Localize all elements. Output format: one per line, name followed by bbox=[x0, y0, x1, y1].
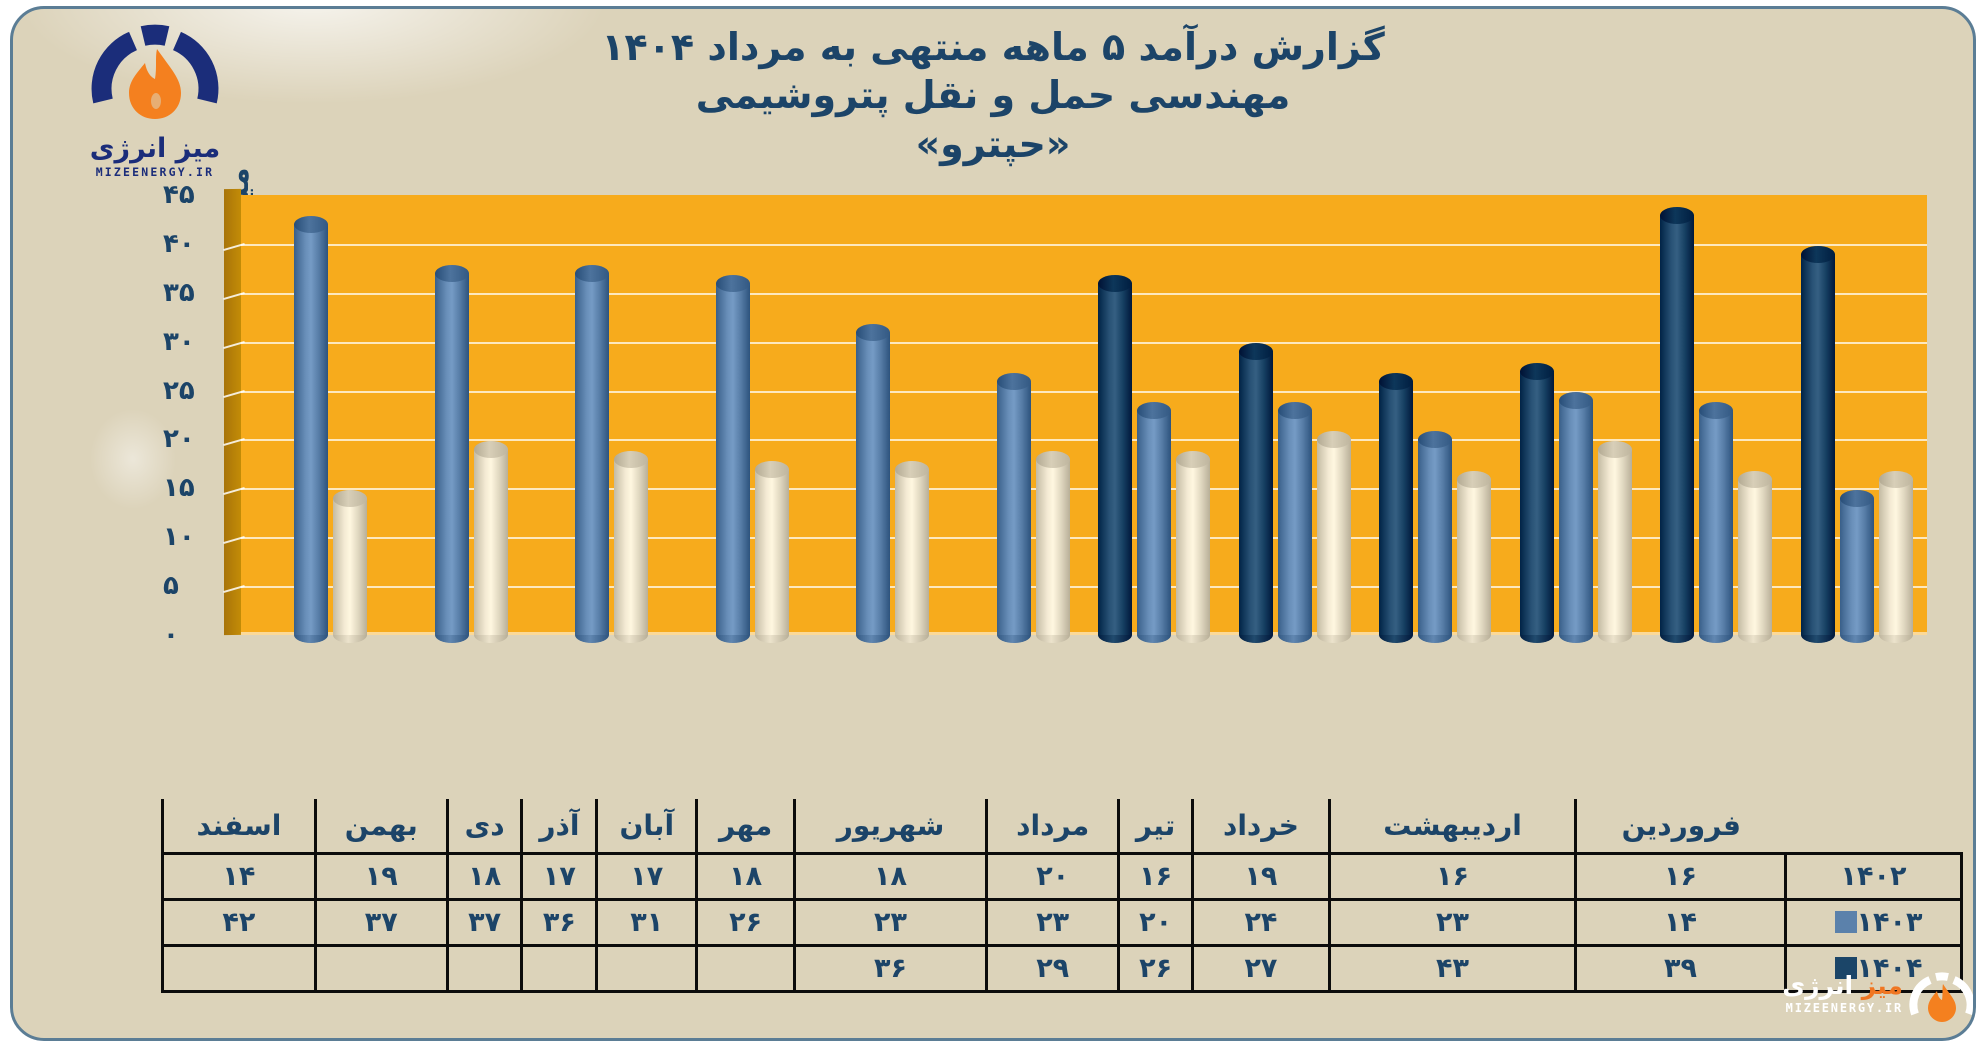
bar-۱۴۰۲-خرداد bbox=[1598, 441, 1632, 635]
bar-۱۴۰۲-تیر bbox=[1457, 471, 1491, 635]
legend-swatch bbox=[1835, 911, 1857, 933]
brand-logo: میز انرژی MIZEENERGY.IR bbox=[65, 23, 245, 188]
bar-۱۴۰۳-اسفند bbox=[294, 216, 328, 635]
table-column-header: مرداد bbox=[987, 799, 1119, 853]
table-cell: ۴۲ bbox=[163, 899, 316, 945]
bar-top-cap bbox=[755, 461, 789, 478]
watermark-name-part2: انرژی bbox=[1782, 971, 1862, 1000]
bar-top-cap bbox=[614, 451, 648, 468]
bar-top-cap bbox=[1278, 402, 1312, 419]
bar-۱۴۰۴-شهریور bbox=[1098, 275, 1132, 635]
table-cell: ۱۷ bbox=[522, 853, 597, 899]
bar-body bbox=[435, 273, 469, 635]
bar-top-cap bbox=[895, 461, 929, 478]
bar-group bbox=[1646, 195, 1787, 635]
brand-url-en: MIZEENERGY.IR bbox=[65, 165, 245, 179]
bar-group bbox=[1225, 195, 1366, 635]
data-table: فروردیناردیبهشتخردادتیرمردادشهریورمهرآبا… bbox=[161, 799, 1963, 993]
bar-top-cap bbox=[1379, 373, 1413, 390]
table-cell: ۱۸ bbox=[447, 853, 522, 899]
table-cell: ۱۷ bbox=[597, 853, 697, 899]
y-tick-label: ۲۵ bbox=[163, 376, 225, 406]
bar-top-cap bbox=[474, 441, 508, 458]
y-tick-label: ۱۵ bbox=[163, 473, 225, 503]
bar-۱۴۰۲-شهریور bbox=[1176, 451, 1210, 635]
screenshot-root: میز انرژی MIZEENERGY.IR گزارش درآمد ۵ ما… bbox=[0, 0, 1986, 1047]
bar-group bbox=[1787, 195, 1928, 635]
bar-۱۴۰۳-خرداد bbox=[1559, 392, 1593, 635]
table-column-header: فروردین bbox=[1576, 799, 1786, 853]
bar-body bbox=[1738, 479, 1772, 635]
bar-group bbox=[1365, 195, 1506, 635]
gauge-flame-icon bbox=[65, 23, 245, 135]
bar-group bbox=[803, 195, 944, 635]
bar-body bbox=[997, 381, 1031, 635]
table-row-label: ۱۴۰۳ bbox=[1786, 899, 1962, 945]
bar-group bbox=[382, 195, 523, 635]
table-cell bbox=[597, 945, 697, 991]
watermark-text: میز انرژی MIZEENERGY.IR bbox=[1782, 973, 1903, 1015]
table-cell bbox=[163, 945, 316, 991]
table-cell: ۱۹ bbox=[315, 853, 447, 899]
table-cell: ۲۳ bbox=[1330, 899, 1576, 945]
table-column-header: مهر bbox=[697, 799, 795, 853]
bar-group bbox=[944, 195, 1085, 635]
bar-body bbox=[1036, 459, 1070, 635]
table-cell: ۳۷ bbox=[315, 899, 447, 945]
table-header-row: فروردیناردیبهشتخردادتیرمردادشهریورمهرآبا… bbox=[163, 799, 1962, 853]
y-tick-label: ۵ bbox=[163, 571, 225, 601]
bar-۱۴۰۳-مرداد bbox=[1278, 402, 1312, 635]
bar-top-cap bbox=[1457, 471, 1491, 488]
bar-top-cap bbox=[1840, 490, 1874, 507]
bar-body bbox=[1239, 351, 1273, 635]
table-column-header: آذر bbox=[522, 799, 597, 853]
table-cell: ۲۰ bbox=[1119, 899, 1193, 945]
bar-top-cap bbox=[856, 324, 890, 341]
table-cell bbox=[447, 945, 522, 991]
bar-top-cap bbox=[716, 275, 750, 292]
bar-top-cap bbox=[1660, 207, 1694, 224]
table-cell: ۳۱ bbox=[597, 899, 697, 945]
bar-body bbox=[1801, 254, 1835, 635]
bar-۱۴۰۲-فروردین bbox=[1879, 471, 1913, 635]
table-cell: ۲۹ bbox=[987, 945, 1119, 991]
table-cell: ۱۴ bbox=[163, 853, 316, 899]
bar-۱۴۰۳-فروردین bbox=[1840, 490, 1874, 635]
watermark-url: MIZEENERGY.IR bbox=[1782, 1001, 1903, 1015]
bar-۱۴۰۴-مرداد bbox=[1239, 343, 1273, 635]
table-cell: ۱۸ bbox=[697, 853, 795, 899]
bar-top-cap bbox=[1738, 471, 1772, 488]
y-tick-label: ۴۰ bbox=[163, 229, 225, 259]
bar-۱۴۰۳-آذر bbox=[716, 275, 750, 635]
bar-group bbox=[522, 195, 663, 635]
table-row: ۱۴۰۲۱۶۱۶۱۹۱۶۲۰۱۸۱۸۱۷۱۷۱۸۱۹۱۴ bbox=[163, 853, 1962, 899]
table-row: ۱۴۰۳۱۴۲۳۲۴۲۰۲۳۲۳۲۶۳۱۳۶۳۷۳۷۴۲ bbox=[163, 899, 1962, 945]
brand-logo-wordmark: میز انرژی MIZEENERGY.IR bbox=[65, 135, 245, 179]
bar-۱۴۰۳-دی bbox=[575, 265, 609, 635]
bar-body bbox=[1418, 439, 1452, 635]
bar-top-cap bbox=[1598, 441, 1632, 458]
bar-top-cap bbox=[1176, 451, 1210, 468]
bar-body bbox=[1559, 400, 1593, 635]
table-cell: ۲۰ bbox=[987, 853, 1119, 899]
y-tick-label: ۰ bbox=[163, 620, 225, 650]
bar-۱۴۰۴-تیر bbox=[1379, 373, 1413, 635]
table-row: ۱۴۰۴۳۹۴۳۲۷۲۶۲۹۳۶ bbox=[163, 945, 1962, 991]
table-cell: ۲۷ bbox=[1192, 945, 1329, 991]
bar-۱۴۰۳-آبان bbox=[856, 324, 890, 635]
bar-۱۴۰۲-اردیبهشت bbox=[1738, 471, 1772, 635]
table-cell bbox=[522, 945, 597, 991]
bar-body bbox=[474, 449, 508, 635]
table-cell: ۱۶ bbox=[1330, 853, 1576, 899]
bar-group bbox=[241, 195, 382, 635]
table-column-header: آبان bbox=[597, 799, 697, 853]
watermark-name-part1: میز bbox=[1862, 971, 1903, 1000]
y-axis-ticks: ۴۵۴۰۳۵۳۰۲۵۲۰۱۵۱۰۵۰ bbox=[163, 195, 225, 635]
bar-group bbox=[1506, 195, 1647, 635]
bar-۱۴۰۲-آبان bbox=[895, 461, 929, 635]
bar-۱۴۰۲-مهر bbox=[1036, 451, 1070, 635]
bar-body bbox=[333, 498, 367, 635]
table-cell: ۲۳ bbox=[987, 899, 1119, 945]
bar-top-cap bbox=[435, 265, 469, 282]
bar-top-cap bbox=[997, 373, 1031, 390]
bar-body bbox=[1520, 371, 1554, 635]
table-column-header: شهریور bbox=[794, 799, 986, 853]
bar-۱۴۰۲-اسفند bbox=[333, 490, 367, 635]
bar-۱۴۰۳-مهر bbox=[997, 373, 1031, 635]
table-cell: ۳۹ bbox=[1576, 945, 1786, 991]
brand-name-fa: میز انرژی bbox=[65, 135, 245, 162]
table-cell: ۱۶ bbox=[1119, 853, 1193, 899]
bar-series-container bbox=[241, 195, 1927, 635]
table-corner-cell bbox=[1786, 799, 1962, 853]
bar-۱۴۰۲-بهمن bbox=[474, 441, 508, 635]
bar-۱۴۰۳-شهریور bbox=[1137, 402, 1171, 635]
table-cell: ۲۶ bbox=[697, 899, 795, 945]
table-cell: ۱۸ bbox=[794, 853, 986, 899]
table-cell: ۴۳ bbox=[1330, 945, 1576, 991]
bar-top-cap bbox=[1879, 471, 1913, 488]
bar-top-cap bbox=[1520, 363, 1554, 380]
table-cell bbox=[315, 945, 447, 991]
table-cell: ۳۶ bbox=[522, 899, 597, 945]
bar-۱۴۰۴-اردیبهشت bbox=[1660, 207, 1694, 635]
table-cell: ۲۳ bbox=[794, 899, 986, 945]
bar-group bbox=[663, 195, 804, 635]
table-column-header: بهمن bbox=[315, 799, 447, 853]
plot-area bbox=[241, 195, 1927, 635]
table-column-header: خرداد bbox=[1192, 799, 1329, 853]
bar-body bbox=[1176, 459, 1210, 635]
bar-body bbox=[1278, 410, 1312, 635]
table-cell: ۳۷ bbox=[447, 899, 522, 945]
y-tick-label: ۳۵ bbox=[163, 278, 225, 308]
table-cell: ۳۶ bbox=[794, 945, 986, 991]
bar-body bbox=[716, 283, 750, 635]
table-cell bbox=[697, 945, 795, 991]
bar-۱۴۰۳-بهمن bbox=[435, 265, 469, 635]
bar-body bbox=[614, 459, 648, 635]
bar-body bbox=[1699, 410, 1733, 635]
table-column-header: تیر bbox=[1119, 799, 1193, 853]
footer-watermark: میز انرژی MIZEENERGY.IR bbox=[1781, 967, 1976, 1039]
table-cell: ۱۴ bbox=[1576, 899, 1786, 945]
table-row-label: ۱۴۰۲ bbox=[1786, 853, 1962, 899]
y-tick-label: ۴۵ bbox=[163, 180, 225, 210]
bar-body bbox=[1098, 283, 1132, 635]
bar-body bbox=[856, 332, 890, 635]
bar-body bbox=[1317, 439, 1351, 635]
page-title: گزارش درآمد ۵ ماهه منتهی به مرداد ۱۴۰۴ م… bbox=[343, 23, 1643, 168]
bar-body bbox=[575, 273, 609, 635]
table-cell: ۱۹ bbox=[1192, 853, 1329, 899]
title-line-1: گزارش درآمد ۵ ماهه منتهی به مرداد ۱۴۰۴ bbox=[343, 23, 1643, 71]
bar-body bbox=[294, 224, 328, 635]
title-line-3: «حپترو» bbox=[343, 120, 1643, 168]
bar-۱۴۰۲-آذر bbox=[755, 461, 789, 635]
title-line-2: مهندسی حمل و نقل پتروشیمی bbox=[343, 71, 1643, 119]
bar-۱۴۰۳-اردیبهشت bbox=[1699, 402, 1733, 635]
bar-body bbox=[1840, 498, 1874, 635]
bar-top-cap bbox=[1036, 451, 1070, 468]
bar-۱۴۰۳-تیر bbox=[1418, 431, 1452, 635]
bar-۱۴۰۲-دی bbox=[614, 451, 648, 635]
table-column-header: اسفند bbox=[163, 799, 316, 853]
bar-chart: میلیارد تومان ۴۵۴۰۳۵۳۰۲۵۲۰۱۵۱۰۵۰ bbox=[163, 195, 1963, 635]
bar-group bbox=[1084, 195, 1225, 635]
bar-top-cap bbox=[1801, 246, 1835, 263]
y-tick-label: ۲۰ bbox=[163, 424, 225, 454]
report-card: میز انرژی MIZEENERGY.IR گزارش درآمد ۵ ما… bbox=[10, 6, 1976, 1041]
table-cell: ۲۶ bbox=[1119, 945, 1193, 991]
bar-body bbox=[755, 469, 789, 635]
bar-body bbox=[1379, 381, 1413, 635]
bar-body bbox=[1879, 479, 1913, 635]
bar-body bbox=[895, 469, 929, 635]
watermark-name: میز انرژی bbox=[1782, 973, 1903, 998]
plot-left-wall bbox=[224, 189, 241, 635]
bar-body bbox=[1137, 410, 1171, 635]
y-tick-label: ۳۰ bbox=[163, 327, 225, 357]
table-column-header: دی bbox=[447, 799, 522, 853]
bar-۱۴۰۴-فروردین bbox=[1801, 246, 1835, 635]
bar-body bbox=[1598, 449, 1632, 635]
bar-۱۴۰۴-خرداد bbox=[1520, 363, 1554, 635]
watermark-gauge-flame-icon bbox=[1907, 967, 1976, 1033]
bar-۱۴۰۲-مرداد bbox=[1317, 431, 1351, 635]
y-tick-label: ۱۰ bbox=[163, 522, 225, 552]
table-column-header: اردیبهشت bbox=[1330, 799, 1576, 853]
bar-body bbox=[1660, 215, 1694, 635]
bar-top-cap bbox=[1098, 275, 1132, 292]
table-cell: ۲۴ bbox=[1192, 899, 1329, 945]
table-cell: ۱۶ bbox=[1576, 853, 1786, 899]
bar-body bbox=[1457, 479, 1491, 635]
